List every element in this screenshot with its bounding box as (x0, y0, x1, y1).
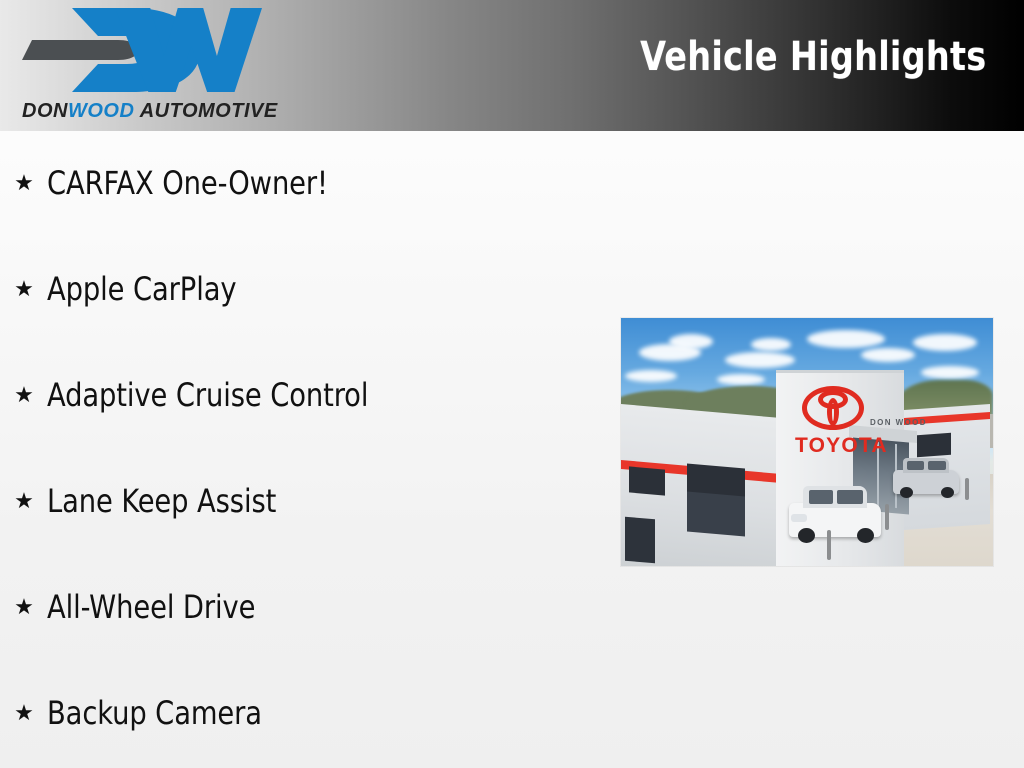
dw-monogram-icon (14, 4, 262, 96)
highlight-label: Backup Camera (47, 694, 262, 732)
star-bullet-icon: ★ (14, 702, 34, 724)
logo-wordmark-wood: WOOD (68, 100, 134, 122)
highlight-label: Adaptive Cruise Control (47, 376, 368, 414)
logo-wordmark-automotive: AUTOMOTIVE (134, 100, 277, 122)
star-bullet-icon: ★ (14, 172, 34, 194)
list-item: ★ Adaptive Cruise Control (14, 372, 385, 418)
list-item: ★ Lane Keep Assist (14, 478, 288, 524)
list-item: ★ Apple CarPlay (14, 266, 246, 312)
highlight-label: Apple CarPlay (47, 270, 236, 308)
logo-wordmark-don: DON (22, 100, 68, 122)
highlight-label: CARFAX One-Owner! (47, 164, 328, 202)
donwood-sign-text: DON WOOD (870, 418, 927, 427)
dealership-photo[interactable]: TOYOTA DON WOOD (621, 318, 993, 566)
list-item: ★ CARFAX One-Owner! (14, 160, 343, 206)
highlight-label: All-Wheel Drive (47, 588, 255, 626)
star-bullet-icon: ★ (14, 596, 34, 618)
logo-wordmark: DONWOOD AUTOMOTIVE (22, 100, 266, 126)
star-bullet-icon: ★ (14, 384, 34, 406)
page-header: DONWOOD AUTOMOTIVE Vehicle Highlights (0, 0, 1024, 131)
highlight-label: Lane Keep Assist (47, 482, 276, 520)
page-title: Vehicle Highlights (641, 34, 987, 80)
toyota-brand-text: TOYOTA (795, 434, 888, 458)
list-item: ★ Backup Camera (14, 690, 273, 736)
star-bullet-icon: ★ (14, 278, 34, 300)
list-item: ★ All-Wheel Drive (14, 584, 266, 630)
dealership-photo-image: TOYOTA DON WOOD (621, 318, 993, 566)
toyota-logo-icon (802, 386, 864, 430)
donwood-automotive-logo[interactable]: DONWOOD AUTOMOTIVE (14, 4, 262, 128)
star-bullet-icon: ★ (14, 490, 34, 512)
vehicle-highlights-list: ★ CARFAX One-Owner! ★ Apple CarPlay ★ Ad… (0, 131, 600, 768)
